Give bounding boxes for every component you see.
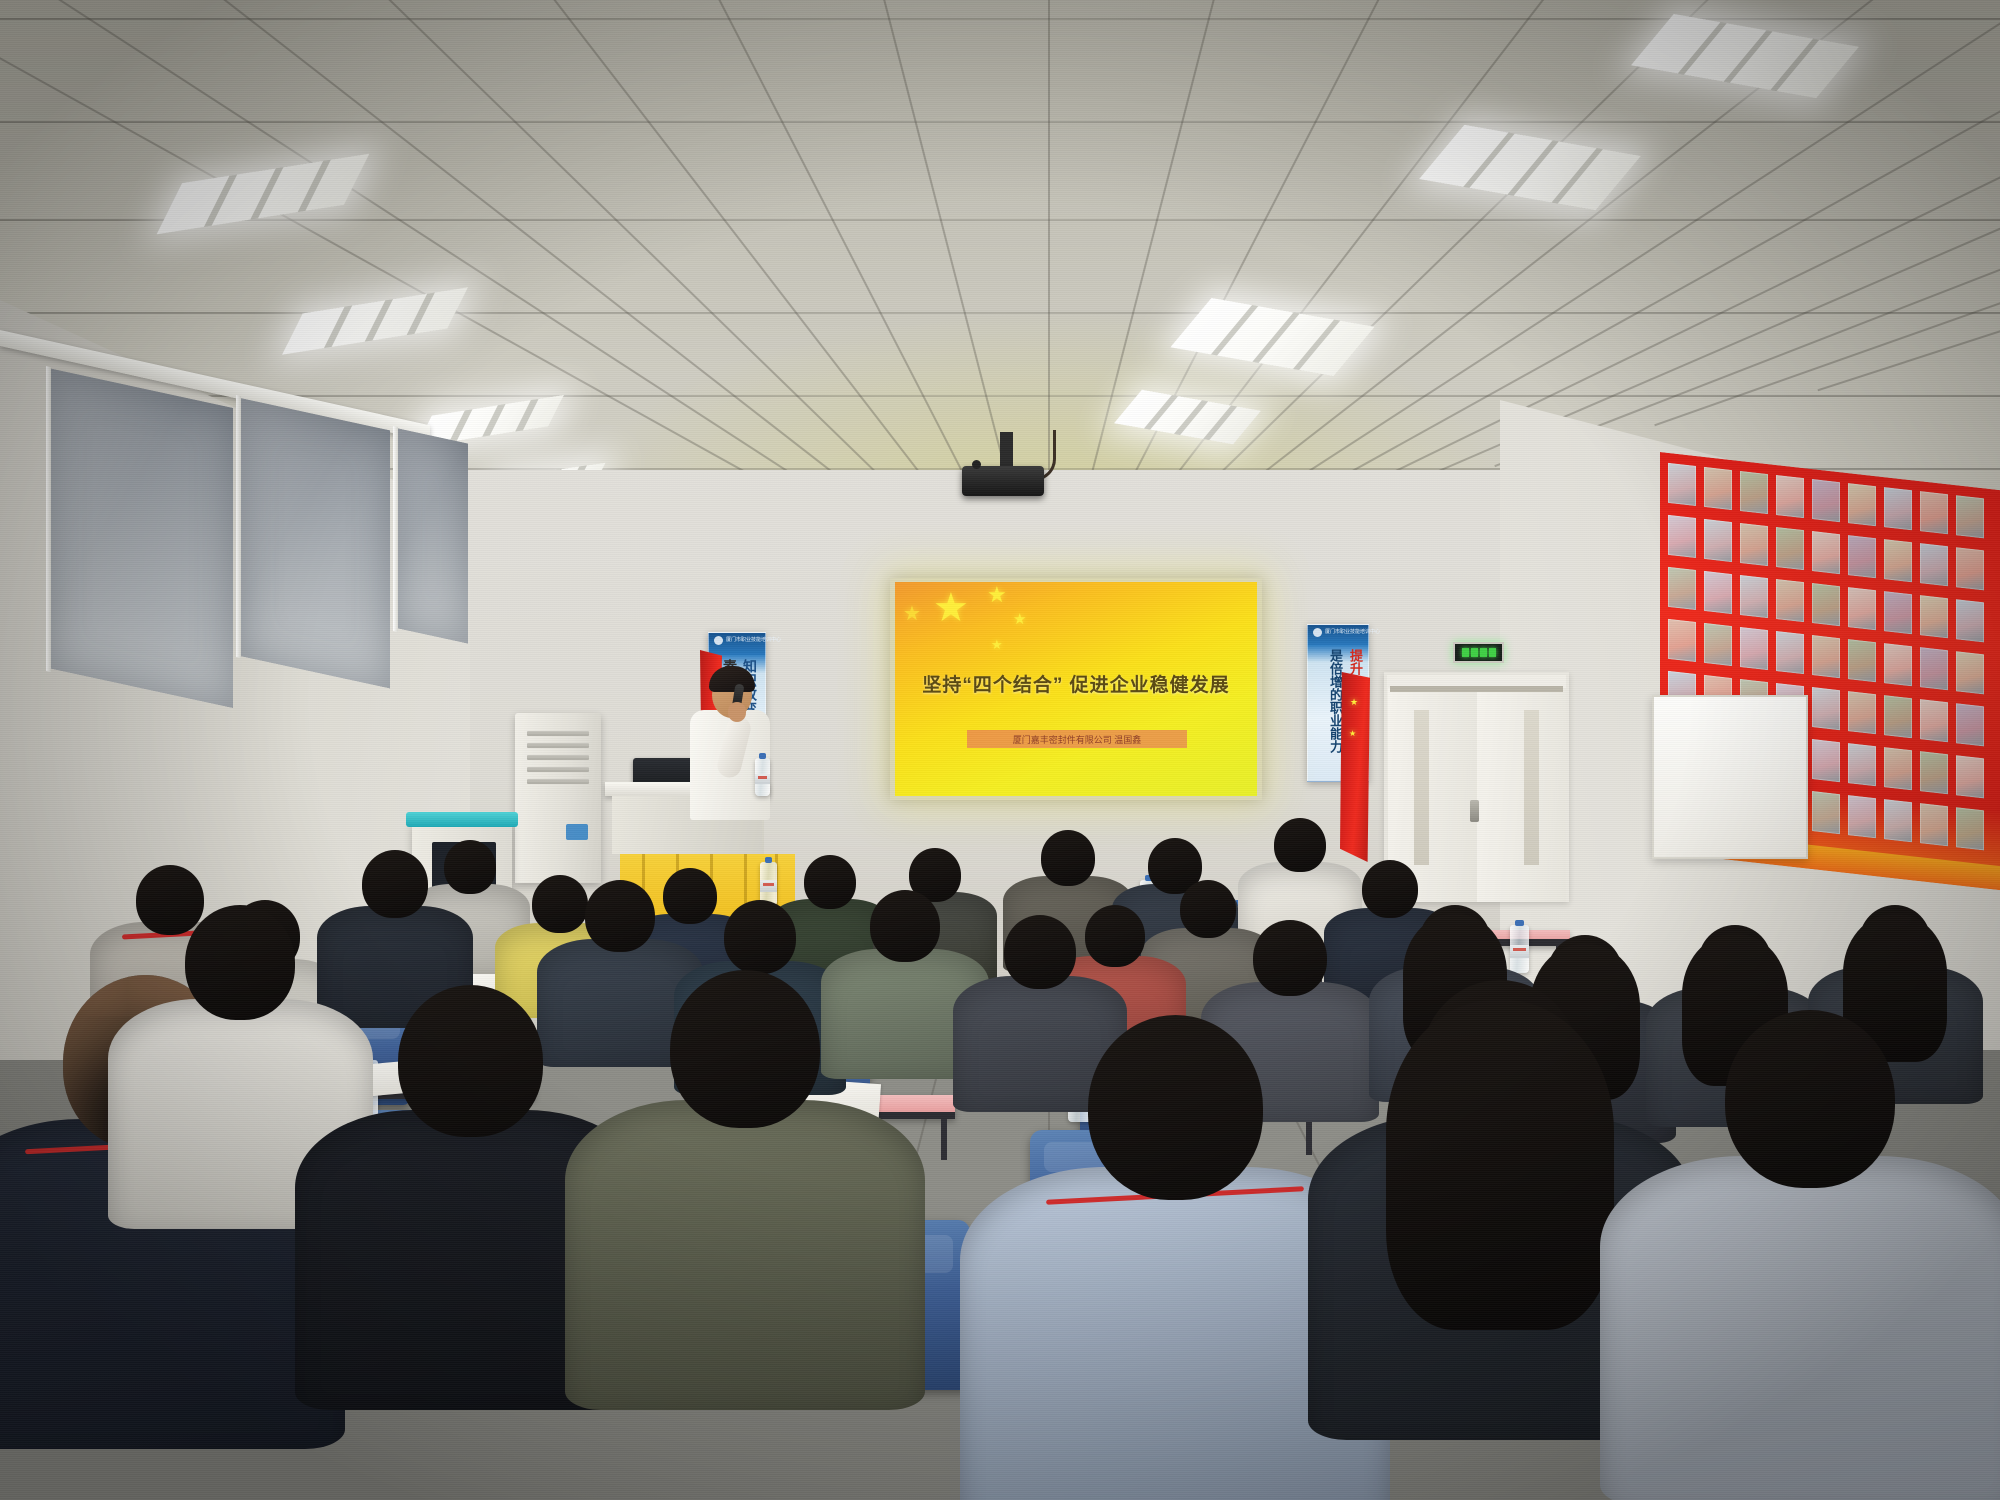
attendee-head — [362, 850, 428, 918]
audience — [0, 0, 2000, 1500]
attendee-hair — [1386, 1000, 1614, 1330]
attendee-head — [1253, 920, 1327, 996]
attendee-head — [1180, 880, 1236, 938]
attendee-torso — [565, 1100, 925, 1410]
attendee-head — [185, 905, 295, 1020]
attendee-torso — [1600, 1156, 2000, 1500]
attendee-head — [1041, 830, 1095, 886]
attendee-head — [1085, 905, 1145, 967]
attendee-head — [724, 900, 796, 974]
attendee-head — [663, 868, 717, 924]
attendee-head — [532, 875, 588, 933]
attendee-head — [670, 970, 820, 1128]
attendee-head — [804, 855, 856, 909]
attendee-head — [1274, 818, 1326, 872]
attendee-head — [1362, 860, 1418, 918]
attendee-head — [585, 880, 655, 952]
attendee-head — [870, 890, 940, 962]
attendee-head — [136, 865, 204, 935]
attendee-head — [1004, 915, 1076, 989]
attendee-head — [1725, 1010, 1895, 1188]
attendee-head — [1088, 1015, 1263, 1200]
attendee-head — [444, 840, 496, 894]
attendee-head — [398, 985, 543, 1137]
seminar-room-photo: 厦门市职业技能培训中心 知识改变命运 素质成就未来 厦门市职业技能培训中心 提升… — [0, 0, 2000, 1500]
